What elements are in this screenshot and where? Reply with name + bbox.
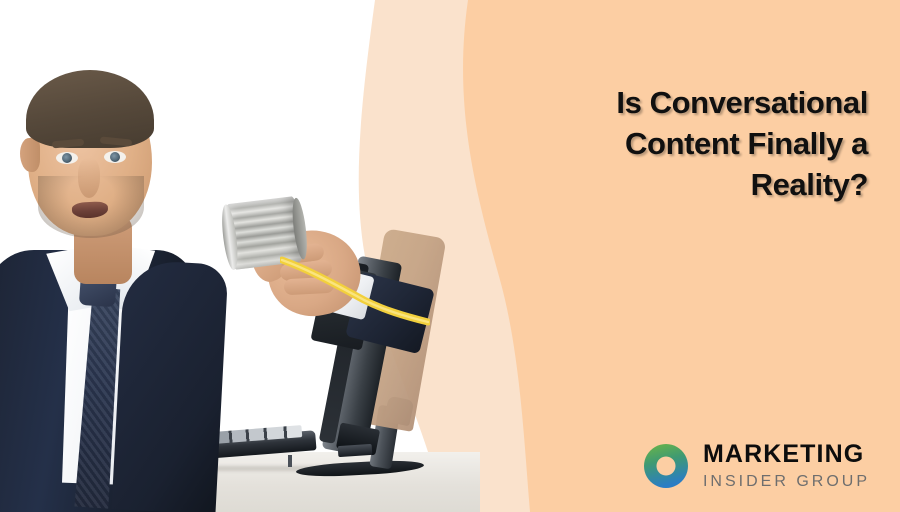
eye-left	[56, 152, 78, 164]
article-hero-banner: Is Conversational Content Finally a Real…	[0, 0, 900, 512]
logo-wordmark: MARKETING INSIDER GROUP	[703, 442, 870, 490]
hair	[26, 70, 154, 148]
keyboard-numpad-edge	[338, 444, 373, 457]
nose	[78, 158, 100, 198]
headline-line-2: Content Finally a	[508, 123, 868, 164]
brand-logo[interactable]: MARKETING INSIDER GROUP	[643, 442, 870, 490]
yellow-string	[280, 246, 430, 326]
page-title: Is Conversational Content Finally a Real…	[508, 82, 868, 206]
logo-wordmark-secondary: INSIDER GROUP	[703, 474, 870, 490]
suit-jacket-right	[112, 259, 229, 512]
eye-right	[104, 151, 126, 163]
headline-line-3: Reality?	[508, 164, 868, 205]
headline-line-1: Is Conversational	[508, 82, 868, 123]
ear	[20, 138, 40, 172]
main-peach-panel	[463, 0, 900, 512]
iris-right	[110, 152, 120, 162]
ring-logo-icon	[643, 443, 689, 489]
iris-left	[62, 153, 72, 163]
hero-photo	[0, 0, 520, 512]
logo-wordmark-primary: MARKETING	[703, 442, 870, 467]
keyboard-foot	[288, 455, 292, 467]
